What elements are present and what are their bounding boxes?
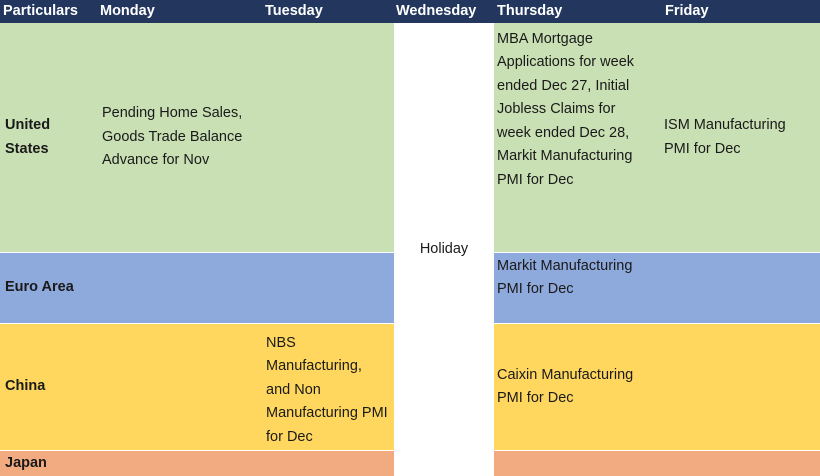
column-header-friday: Friday <box>665 0 820 23</box>
cell-euro-area-thursday: Markit Manufacturing PMI for Dec <box>494 253 659 323</box>
cell-euro-area-friday <box>659 253 820 323</box>
cell-china-thursday: Caixin Manufacturing PMI for Dec <box>494 324 659 450</box>
column-header-particulars: Particulars <box>3 0 97 23</box>
cell-china-friday <box>659 324 820 450</box>
cell-wednesday-holiday-merged: Holiday <box>394 23 494 476</box>
cell-japan-monday <box>97 451 263 476</box>
holiday-label: Holiday <box>420 239 468 260</box>
table-body: United States Pending Home Sales, Goods … <box>0 23 820 476</box>
cell-japan-tuesday <box>263 451 394 476</box>
cell-china-monday <box>97 324 263 450</box>
cell-united-states-monday: Pending Home Sales, Goods Trade Balance … <box>97 23 263 252</box>
column-header-tuesday: Tuesday <box>265 0 394 23</box>
row-label-euro-area: Euro Area <box>0 253 97 323</box>
cell-japan-friday <box>659 451 820 476</box>
cell-china-tuesday: NBS Manufacturing, and Non Manufacturing… <box>263 324 394 450</box>
economic-calendar-table: Particulars Monday Tuesday Wednesday Thu… <box>0 0 820 476</box>
cell-euro-area-monday <box>97 253 263 323</box>
cell-united-states-friday: ISM Manufacturing PMI for Dec <box>659 23 820 252</box>
column-header-thursday: Thursday <box>497 0 659 23</box>
cell-euro-area-tuesday <box>263 253 394 323</box>
cell-japan-thursday <box>494 451 659 476</box>
row-label-united-states: United States <box>0 23 97 252</box>
cell-united-states-thursday: MBA Mortgage Applications for week ended… <box>494 23 659 252</box>
cell-united-states-tuesday <box>263 23 394 252</box>
table-header-row: Particulars Monday Tuesday Wednesday Thu… <box>0 0 820 23</box>
column-header-wednesday: Wednesday <box>396 0 494 23</box>
row-label-japan: Japan <box>0 451 97 476</box>
column-header-monday: Monday <box>100 0 263 23</box>
row-label-china: China <box>0 324 97 450</box>
